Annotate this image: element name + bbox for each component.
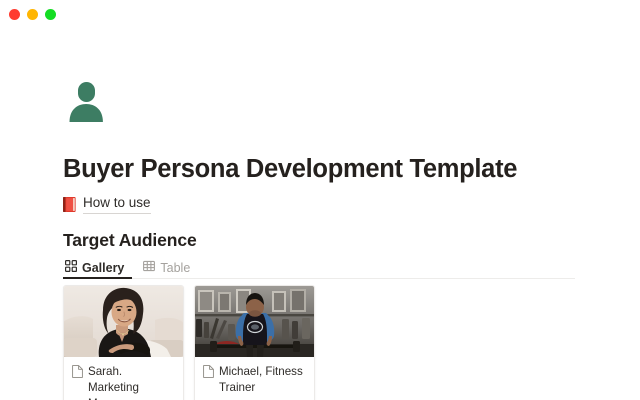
window-titlebar [0,0,640,28]
page-body: Buyer Persona Development Template How t… [0,28,640,400]
page-document-icon [203,365,214,383]
traffic-light-controls [9,9,56,20]
maximize-window-button[interactable] [45,9,56,20]
gallery-card-list: Sarah. Marketing Manager [63,285,315,400]
page-document-icon [72,365,83,383]
gallery-card[interactable]: Sarah. Marketing Manager [63,285,184,400]
card-title: Michael, Fitness Trainer [219,364,306,396]
page-title: Buyer Persona Development Template [63,154,517,185]
card-cover-image-sarah [64,286,183,357]
table-grid-icon [143,259,155,277]
gallery-grid-icon [65,259,77,277]
close-window-button[interactable] [9,9,20,20]
card-cover-image-michael [195,286,314,357]
how-to-use-link[interactable]: How to use [83,194,151,214]
section-heading-target-audience: Target Audience [63,229,197,252]
tab-table-label: Table [160,260,190,276]
minimize-window-button[interactable] [27,9,38,20]
closed-book-emoji [63,197,76,212]
card-title: Sarah. Marketing Manager [88,364,175,400]
tab-gallery-label: Gallery [82,260,124,276]
card-body: Michael, Fitness Trainer [195,357,314,400]
view-tabs: Gallery Table [63,256,575,279]
how-to-use-row[interactable]: How to use [63,194,151,214]
gallery-card[interactable]: Michael, Fitness Trainer [194,285,315,400]
tab-gallery[interactable]: Gallery [63,257,132,278]
app-window: Buyer Persona Development Template How t… [0,0,640,400]
tab-table[interactable]: Table [141,257,198,278]
person-avatar-icon[interactable] [63,77,109,123]
card-body: Sarah. Marketing Manager [64,357,183,400]
